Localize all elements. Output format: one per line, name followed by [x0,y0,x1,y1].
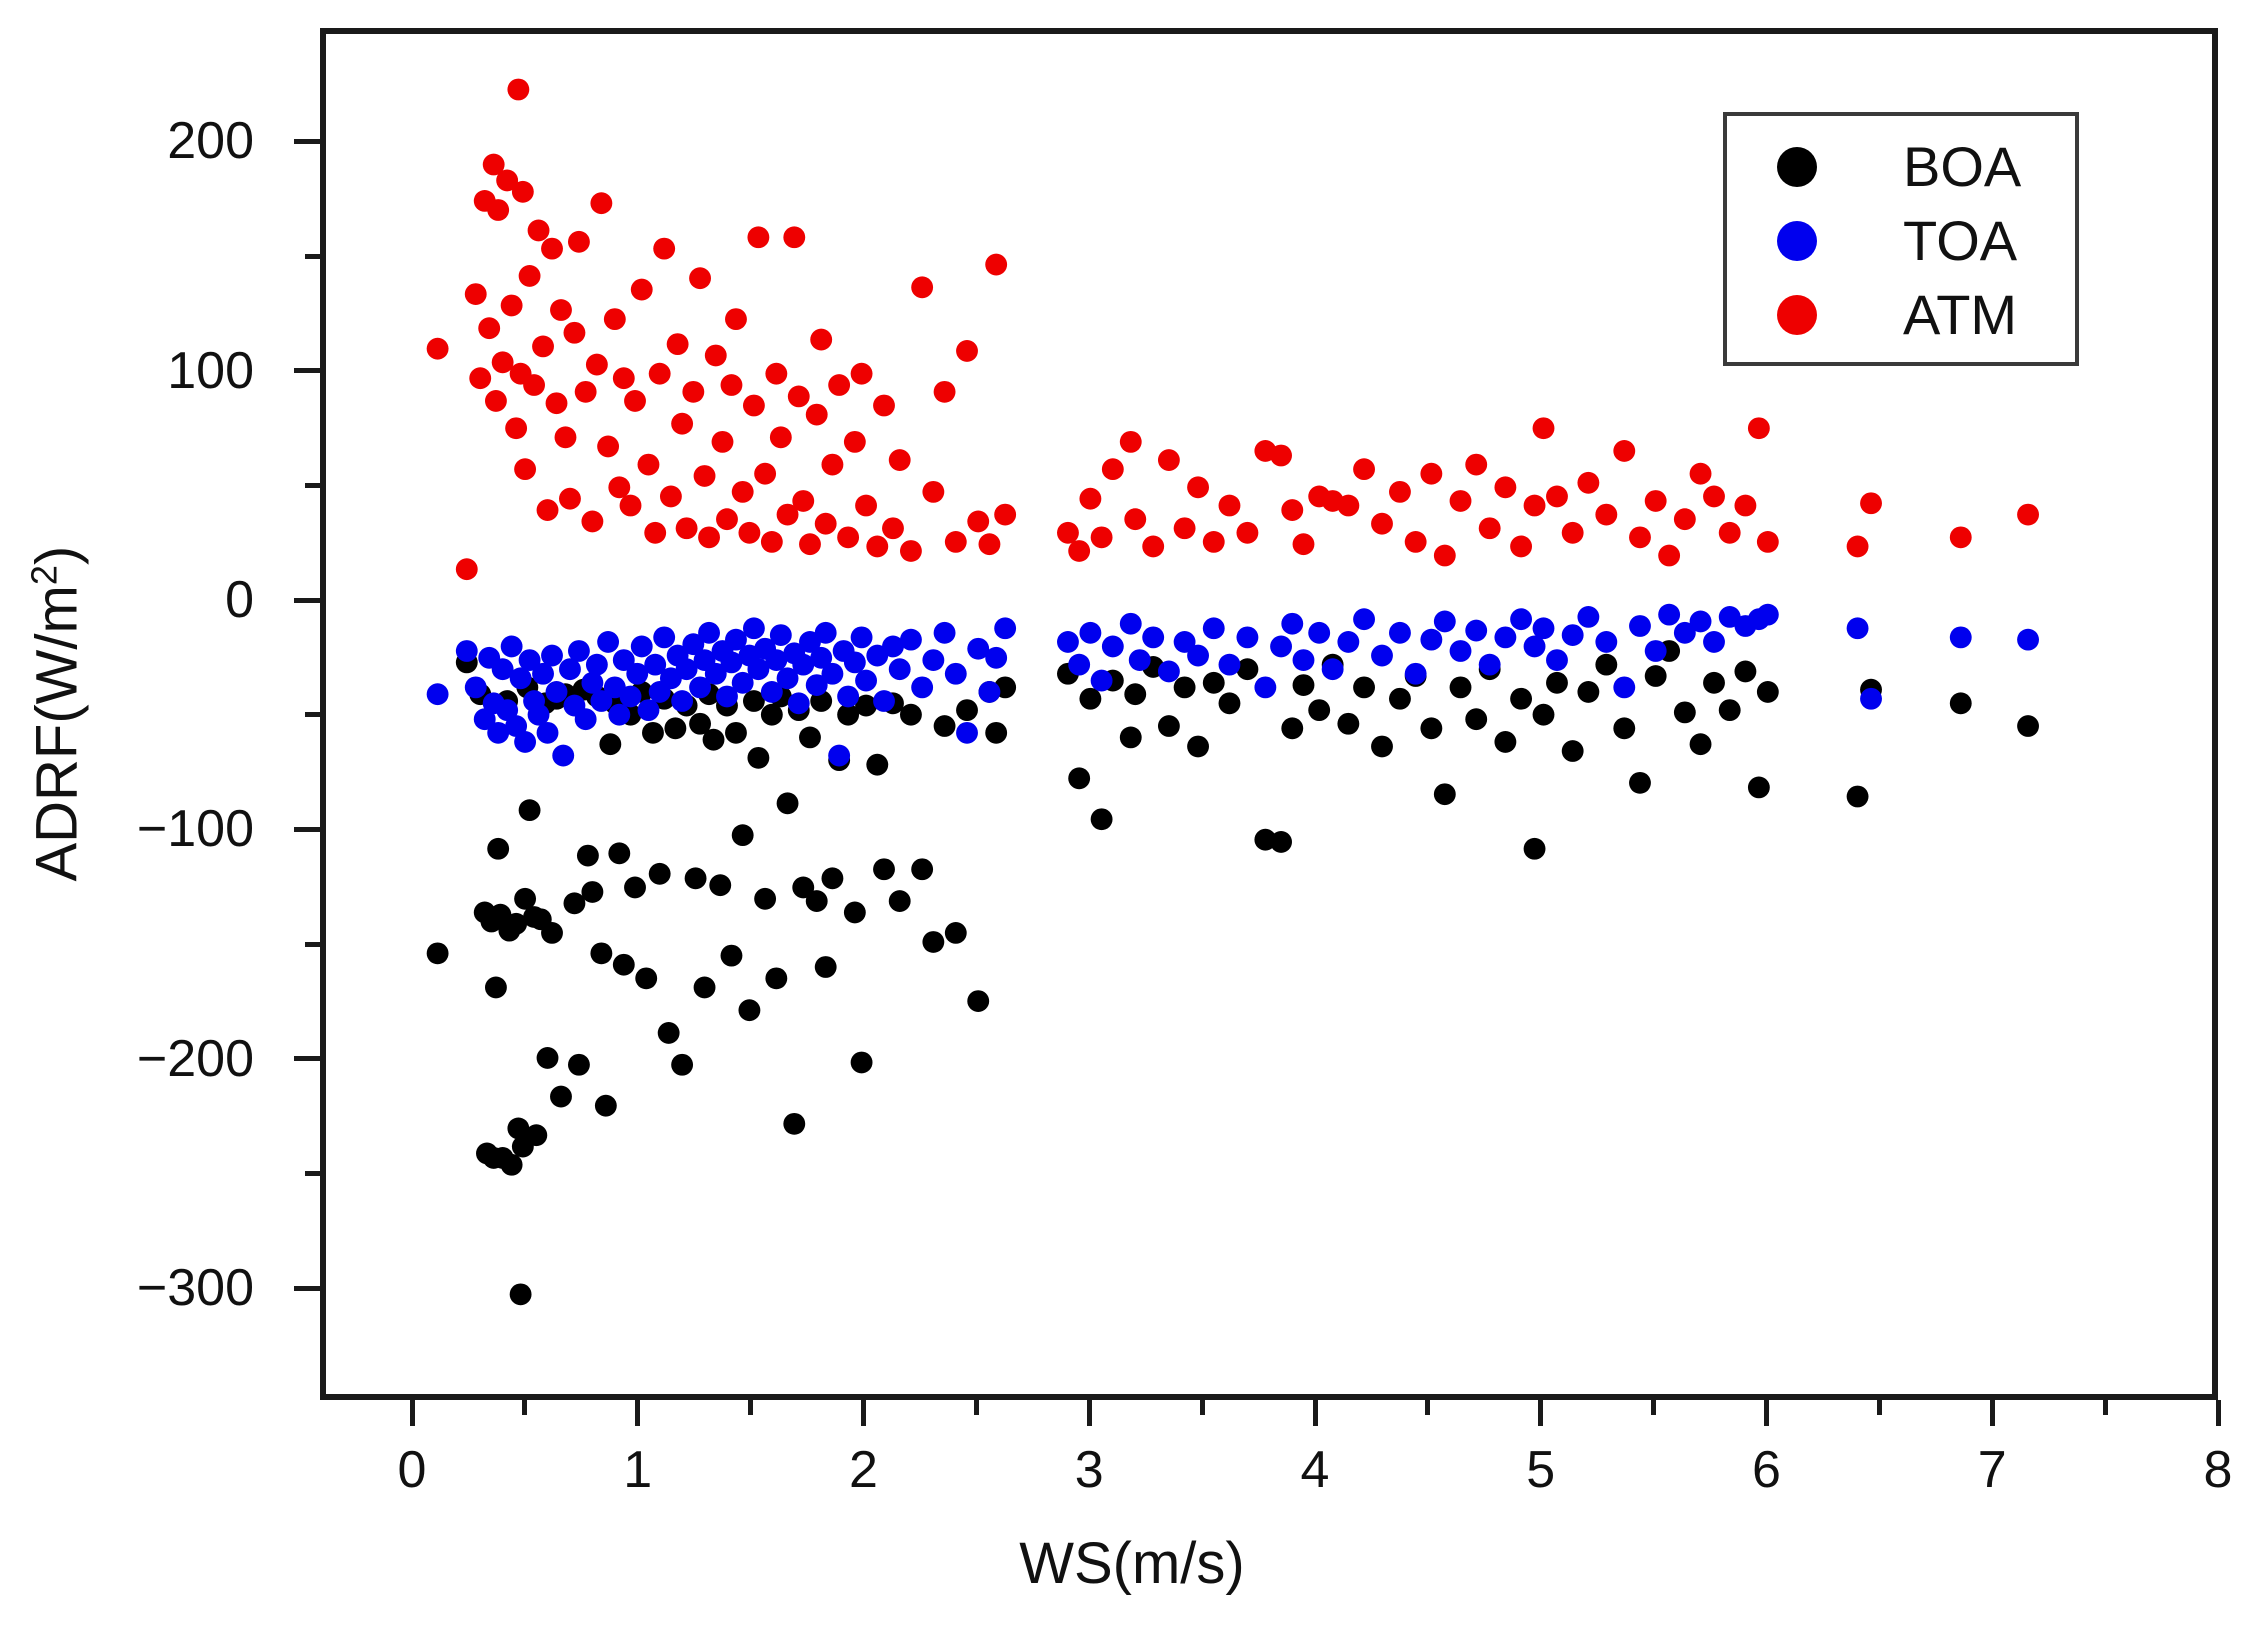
legend-label-atm: ATM [1903,287,2017,343]
data-point [994,617,1016,639]
data-point [465,283,487,305]
legend-item-toa[interactable]: TOA [1727,204,2075,278]
y-tick-minor [305,1171,320,1176]
data-point [821,867,843,889]
chart-figure: 012345678 −300−200−1000100200 WS(m/s) AD… [0,0,2264,1648]
x-tick-label: 7 [1978,1440,2007,1500]
data-point [761,531,783,553]
data-point [512,181,534,203]
data-point [1658,604,1680,626]
data-point [866,536,888,558]
data-point [1057,522,1079,544]
data-point [555,426,577,448]
data-point [1562,624,1584,646]
x-tick-label: 2 [849,1440,878,1500]
data-point [1577,472,1599,494]
data-point [979,533,1001,555]
data-point [1120,431,1142,453]
y-tick-major [294,598,320,603]
data-point [613,367,635,389]
data-point [844,651,866,673]
data-point [1847,617,1869,639]
data-point [703,729,725,751]
data-point [427,942,449,964]
data-point [1577,681,1599,703]
data-point [1450,676,1472,698]
data-point [1353,458,1375,480]
y-tick-minor [305,942,320,947]
data-point [922,649,944,671]
data-point [597,436,619,458]
data-point [821,663,843,685]
data-point [837,686,859,708]
data-point [465,676,487,698]
data-point [1068,540,1090,562]
data-point [698,622,720,644]
data-point [873,395,895,417]
y-tick-label: −100 [137,799,254,859]
data-point [2017,715,2039,737]
data-point [1510,608,1532,630]
data-point [664,717,686,739]
y-tick-label: −300 [137,1258,254,1318]
data-point [653,238,675,260]
data-point [882,517,904,539]
y-tick-major [294,368,320,373]
data-point [1950,526,1972,548]
data-point [1091,526,1113,548]
data-point [1236,626,1258,648]
data-point [743,617,765,639]
data-point [956,722,978,744]
data-point [994,504,1016,526]
y-tick-major [294,827,320,832]
data-point [541,922,563,944]
data-point [575,381,597,403]
y-tick-major [294,139,320,144]
data-point [644,522,666,544]
data-point [1434,783,1456,805]
data-point [1203,617,1225,639]
data-point [815,513,837,535]
data-point [1079,488,1101,510]
data-point [469,367,491,389]
data-point [1703,631,1725,653]
data-point [821,454,843,476]
data-point [855,670,877,692]
data-point [934,381,956,403]
data-point [732,824,754,846]
data-point [1674,701,1696,723]
data-point [716,508,738,530]
data-point [1293,649,1315,671]
data-point [900,540,922,562]
data-point [709,874,731,896]
data-point [1595,504,1617,526]
data-point [581,881,603,903]
data-point [694,977,716,999]
data-point [653,626,675,648]
data-point [624,390,646,412]
y-tick-major [294,1056,320,1061]
data-point [1281,499,1303,521]
data-point [624,877,646,899]
data-point [828,745,850,767]
data-point [1068,654,1090,676]
data-point [743,395,765,417]
data-point [1174,517,1196,539]
data-point [788,692,810,714]
data-point [1658,545,1680,567]
y-tick-minor [305,712,320,717]
data-point [564,322,586,344]
data-point [1533,417,1555,439]
data-point [1353,608,1375,630]
data-point [1124,508,1146,530]
data-point [492,351,514,373]
data-point [1337,495,1359,517]
data-point [1434,545,1456,567]
data-point [945,531,967,553]
y-tick-label: 0 [225,570,254,630]
data-point [777,792,799,814]
data-point [528,220,550,242]
data-point [810,329,832,351]
data-point [754,463,776,485]
data-point [1434,611,1456,633]
data-point [546,681,568,703]
data-point [844,902,866,924]
data-point [1748,417,1770,439]
data-point [851,1052,873,1074]
y-tick-label: 100 [167,341,254,401]
data-point [806,404,828,426]
x-tick-label: 6 [1752,1440,1781,1500]
data-point [537,499,559,521]
data-point [1142,536,1164,558]
data-point [519,799,541,821]
x-tick-major [410,1400,415,1426]
data-point [712,431,734,453]
data-point [1629,526,1651,548]
data-point [1546,672,1568,694]
data-point [1371,736,1393,758]
data-point [1389,622,1411,644]
data-point [649,363,671,385]
data-point [922,481,944,503]
data-point [815,956,837,978]
data-point [501,1154,523,1176]
x-tick-minor [1877,1400,1882,1415]
data-point [559,488,581,510]
data-point [747,226,769,248]
data-point [1719,699,1741,721]
data-point [799,726,821,748]
data-point [1734,661,1756,683]
data-point [1748,776,1770,798]
data-point [911,676,933,698]
data-point [1494,731,1516,753]
data-point [788,385,810,407]
x-tick-minor [974,1400,979,1415]
data-point [1847,536,1869,558]
x-tick-minor [1425,1400,1430,1415]
data-point [1950,692,1972,714]
data-point [1595,631,1617,653]
data-point [1142,626,1164,648]
data-point [967,990,989,1012]
data-point [1187,645,1209,667]
data-point [568,640,590,662]
data-point [1219,654,1241,676]
data-point [1524,838,1546,860]
data-point [783,226,805,248]
data-point [738,999,760,1021]
data-point [1158,661,1180,683]
data-point [456,558,478,580]
data-point [649,863,671,885]
data-point [698,526,720,548]
data-point [525,1124,547,1146]
data-point [1510,536,1532,558]
data-point [945,663,967,685]
x-axis-title: WS(m/s) [0,1530,2264,1597]
y-tick-label: −200 [137,1029,254,1089]
legend-item-atm[interactable]: ATM [1727,278,2075,352]
data-point [597,631,619,653]
data-point [1124,683,1146,705]
data-point [1405,531,1427,553]
data-point [967,511,989,533]
data-point [1337,631,1359,653]
data-point [1270,636,1292,658]
data-point [889,658,911,680]
data-point [608,842,630,864]
data-point [599,733,621,755]
data-point [721,945,743,967]
x-tick-major [635,1400,640,1426]
data-point [1645,640,1667,662]
data-point [1371,645,1393,667]
x-tick-label: 5 [1526,1440,1555,1500]
chart-legend: BOA TOA ATM [1723,112,2079,366]
data-point [682,381,704,403]
x-tick-major [1538,1400,1543,1426]
data-point [1420,463,1442,485]
y-axis-title-exponent: 2 [23,565,64,585]
data-point [487,838,509,860]
data-point [676,517,698,539]
x-tick-major [1990,1400,1995,1426]
data-point [956,699,978,721]
data-point [792,490,814,512]
data-point [1577,606,1599,628]
data-point [851,626,873,648]
data-point [783,1113,805,1135]
data-point [1102,458,1124,480]
data-point [1353,676,1375,698]
data-point [1270,831,1292,853]
legend-marker-toa-icon [1777,221,1817,261]
data-point [705,345,727,367]
data-point [815,622,837,644]
data-point [1079,622,1101,644]
data-point [550,299,572,321]
x-tick-minor [2103,1400,2108,1415]
x-tick-major [1764,1400,1769,1426]
data-point [765,967,787,989]
data-point [507,79,529,101]
data-point [1562,522,1584,544]
legend-marker-boa-icon [1777,147,1817,187]
data-point [1281,717,1303,739]
data-point [478,317,500,339]
data-point [541,238,563,260]
data-point [1757,604,1779,626]
data-point [501,636,523,658]
y-axis-title: ADRF(W/m2) [23,414,90,1014]
data-point [889,449,911,471]
data-point [985,722,1007,744]
x-tick-major [1313,1400,1318,1426]
data-point [1389,688,1411,710]
data-point [427,338,449,360]
x-tick-minor [748,1400,753,1415]
data-point [613,954,635,976]
data-point [1690,733,1712,755]
data-point [1546,486,1568,508]
data-point [532,335,554,357]
data-point [770,624,792,646]
x-tick-label: 3 [1075,1440,1104,1500]
data-point [934,622,956,644]
data-point [1203,531,1225,553]
data-point [608,476,630,498]
data-point [1057,631,1079,653]
data-point [844,431,866,453]
data-point [900,629,922,651]
data-point [945,922,967,944]
legend-marker-atm-icon [1777,295,1817,335]
x-tick-major [1087,1400,1092,1426]
data-point [685,867,707,889]
data-point [590,942,612,964]
data-point [620,495,642,517]
data-point [1270,445,1292,467]
x-tick-major [2216,1400,2221,1426]
data-point [514,458,536,480]
data-point [873,690,895,712]
data-point [689,267,711,289]
data-point [1187,476,1209,498]
data-point [485,390,507,412]
data-point [1629,615,1651,637]
x-tick-major [861,1400,866,1426]
data-point [1524,495,1546,517]
data-point [1120,726,1142,748]
data-point [1690,611,1712,633]
data-point [1293,533,1315,555]
data-point [1450,490,1472,512]
data-point [510,1283,532,1305]
data-point [1494,626,1516,648]
data-point [911,276,933,298]
legend-label-boa: BOA [1903,139,2021,195]
data-point [586,354,608,376]
data-point [568,1054,590,1076]
data-point [1562,740,1584,762]
data-point [667,333,689,355]
data-point [1254,676,1276,698]
data-point [1629,772,1651,794]
data-point [900,704,922,726]
data-point [638,699,660,721]
data-point [1450,640,1472,662]
data-point [1533,704,1555,726]
data-point [985,254,1007,276]
data-point [1405,663,1427,685]
data-point [889,890,911,912]
data-point [514,731,536,753]
data-point [1645,490,1667,512]
y-axis-title-close: ) [25,546,90,565]
data-point [828,374,850,396]
data-point [620,686,642,708]
data-point [671,1054,693,1076]
data-point [1187,736,1209,758]
data-point [1158,449,1180,471]
data-point [1690,463,1712,485]
data-point [671,690,693,712]
data-point [575,708,597,730]
data-point [1950,626,1972,648]
data-point [1595,654,1617,676]
data-point [604,308,626,330]
data-point [855,495,877,517]
data-point [1465,620,1487,642]
y-tick-minor [305,483,320,488]
data-point [1420,629,1442,651]
data-point [1465,708,1487,730]
data-point [1734,495,1756,517]
data-point [586,654,608,676]
data-point [1613,440,1635,462]
data-point [1613,676,1635,698]
data-point [934,715,956,737]
data-point [747,747,769,769]
data-point [732,481,754,503]
data-point [837,526,859,548]
data-point [1120,613,1142,635]
x-tick-minor [1200,1400,1205,1415]
data-point [537,1047,559,1069]
data-point [1091,670,1113,692]
data-point [552,745,574,767]
data-point [1389,481,1411,503]
data-point [1079,688,1101,710]
y-tick-label: 200 [167,111,254,171]
data-point [1674,508,1696,530]
data-point [1129,649,1151,671]
data-point [1510,688,1532,710]
legend-item-boa[interactable]: BOA [1727,130,2075,204]
x-tick-minor [522,1400,527,1415]
data-point [911,858,933,880]
data-point [505,417,527,439]
data-point [564,892,586,914]
data-point [1322,658,1344,680]
data-point [873,858,895,880]
